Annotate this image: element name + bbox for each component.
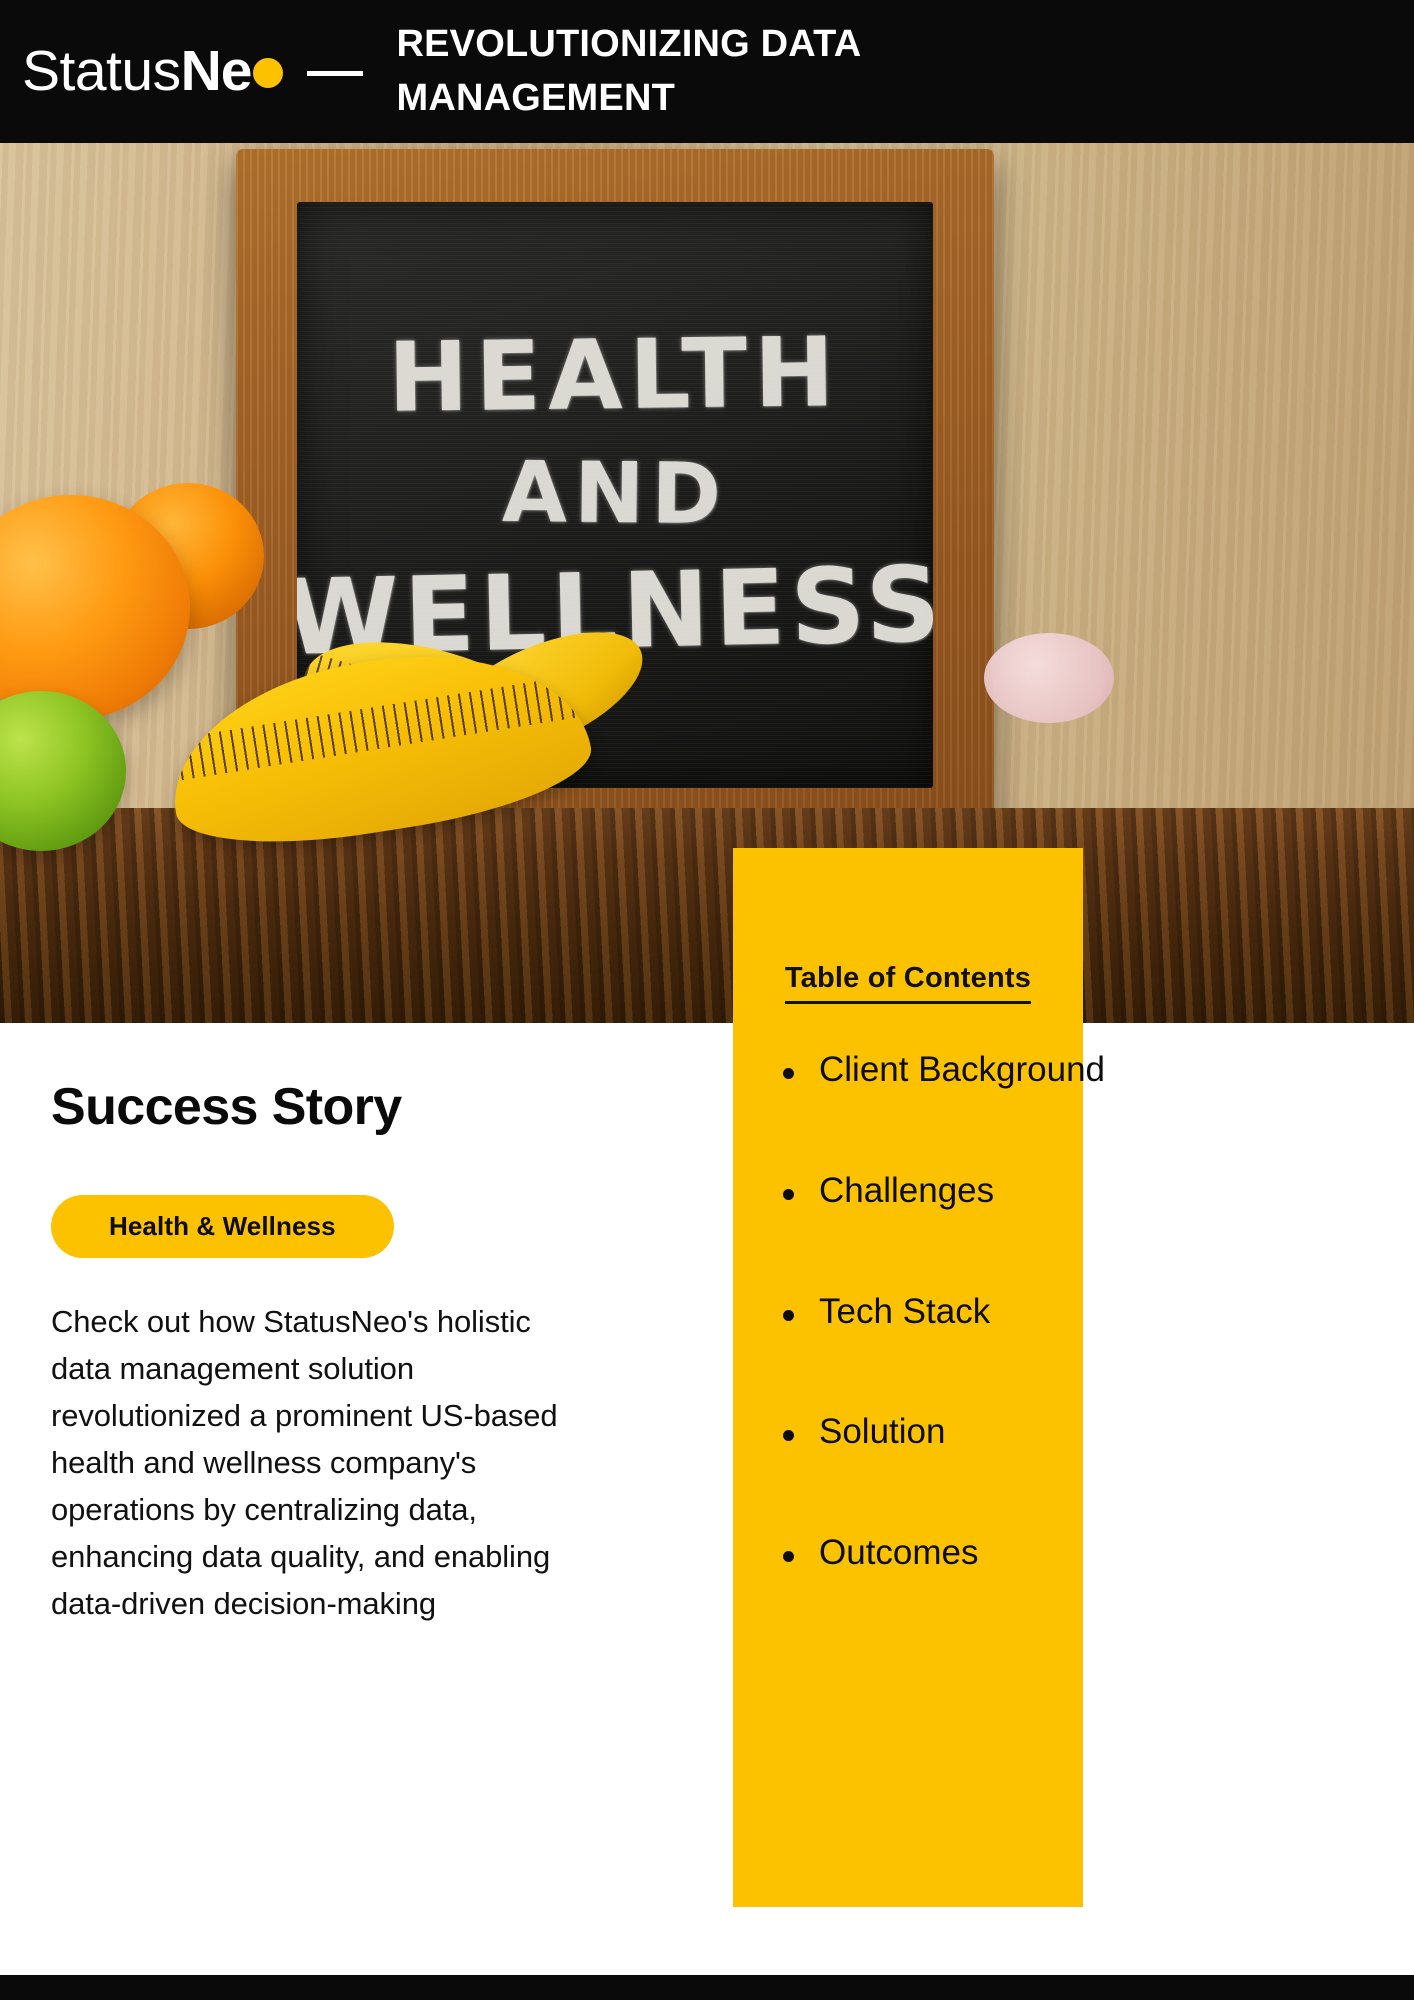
toc-item-solution[interactable]: Solution [781, 1414, 1073, 1451]
table-of-contents-heading-text: Table of Contents [785, 962, 1031, 1004]
table-of-contents-panel: Table of Contents Client Background Chal… [733, 848, 1083, 1907]
hero-prop-blob [984, 633, 1114, 723]
logo-word-status: Status [22, 43, 181, 100]
logo-divider-rule [307, 71, 363, 76]
table-of-contents-heading: Table of Contents [733, 962, 1083, 995]
toc-item-tech-stack[interactable]: Tech Stack [781, 1294, 1073, 1331]
summary-paragraph: Check out how StatusNeo's holistic data … [51, 1298, 561, 1628]
toc-item-challenges[interactable]: Challenges [781, 1173, 1073, 1210]
chalk-line-2: AND [502, 450, 729, 536]
logo-word-ne: Ne [181, 43, 252, 100]
logo-text: StatusNe [22, 43, 283, 100]
logo-dot-o-icon [253, 58, 283, 88]
category-badge: Health & Wellness [51, 1195, 394, 1258]
page-title: Success Story [51, 1080, 571, 1135]
page-header: StatusNe REVOLUTIONIZING DATA MANAGEMENT [0, 0, 1414, 143]
hero-image: HEALTH AND WELLNESS [0, 143, 1414, 1023]
header-title: REVOLUTIONIZING DATA MANAGEMENT [396, 18, 956, 126]
table-of-contents-list: Client Background Challenges Tech Stack … [781, 1052, 1073, 1656]
statusneo-logo[interactable]: StatusNe [22, 43, 363, 100]
toc-item-outcomes[interactable]: Outcomes [781, 1535, 1073, 1572]
main-content: Success Story Health & Wellness Check ou… [51, 1080, 571, 1627]
hero-wooden-table [0, 808, 1414, 1023]
page-footer-bar [0, 1975, 1414, 2000]
chalk-line-1: HEALTH [388, 324, 842, 426]
toc-item-client-background[interactable]: Client Background [781, 1052, 1073, 1089]
